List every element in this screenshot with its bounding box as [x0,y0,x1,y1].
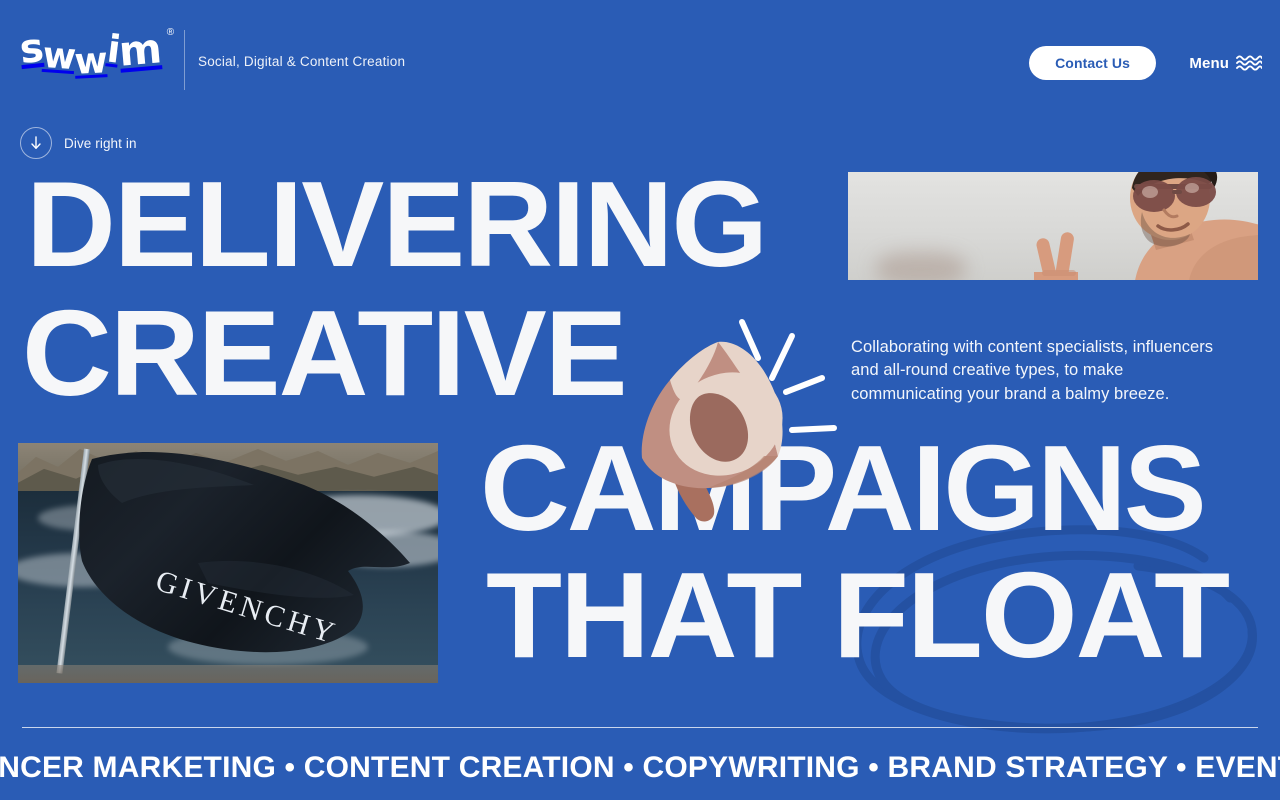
headline-line-3: CAMPAIGNS [480,435,1204,542]
menu-toggle[interactable]: Menu [1189,46,1262,80]
headline-line-4: THAT FLOAT [486,562,1228,669]
logo-letter-m: m [118,28,163,72]
headline-line-2: CREATIVE [22,300,626,407]
hero-page: GIVENCHY DELIVERING CREATIVE CAMPAIGNS T… [0,0,1280,800]
man-peace-sign-photo [848,172,1258,280]
registered-trademark-icon: ® [167,28,173,38]
headline-line-1: DELIVERING [26,171,766,278]
footer-divider [22,727,1258,728]
man-portrait [1038,172,1258,280]
sound-burst-lines [742,322,834,430]
boat-deck [18,665,438,683]
scribble-circle-decoration [838,520,1268,740]
logo-letter-w2: w [74,43,108,81]
marquee-text: ENCER MARKETING • CONTENT CREATION • COP… [0,748,1280,788]
contact-us-button[interactable]: Contact Us [1029,46,1156,80]
hero-paragraph-line-1: Collaborating with content specialists, … [851,336,1263,359]
waves-icon [1236,53,1262,73]
arrow-down-icon [20,127,52,159]
givenchy-flag: GIVENCHY [18,443,438,683]
dive-right-in-label: Dive right in [64,136,137,151]
logo-letter-s: s [18,28,45,70]
dive-right-in-cue[interactable]: Dive right in [20,127,137,159]
services-marquee[interactable]: ENCER MARKETING • CONTENT CREATION • COP… [0,748,1280,792]
site-tagline: Social, Digital & Content Creation [198,54,405,69]
photo-foreground-blur [876,252,966,280]
hero-paragraph-line-3: communicating your brand a balmy breeze. [851,383,1263,406]
hero-paragraph-line-2: and all-round creative types, to make [851,359,1263,382]
site-header: s w w i m ® Social, Digital & Content Cr… [0,0,1280,110]
header-divider [184,30,185,90]
menu-label: Menu [1189,55,1229,72]
hero-paragraph: Collaborating with content specialists, … [851,336,1263,406]
megaphone-illustration [626,296,866,536]
givenchy-flag-photo: GIVENCHY [18,443,438,683]
logo-wordmark: s w w i m ® [20,30,161,71]
logo-swwim[interactable]: s w w i m ® [20,30,161,71]
logo-letter-w1: w [41,38,76,76]
